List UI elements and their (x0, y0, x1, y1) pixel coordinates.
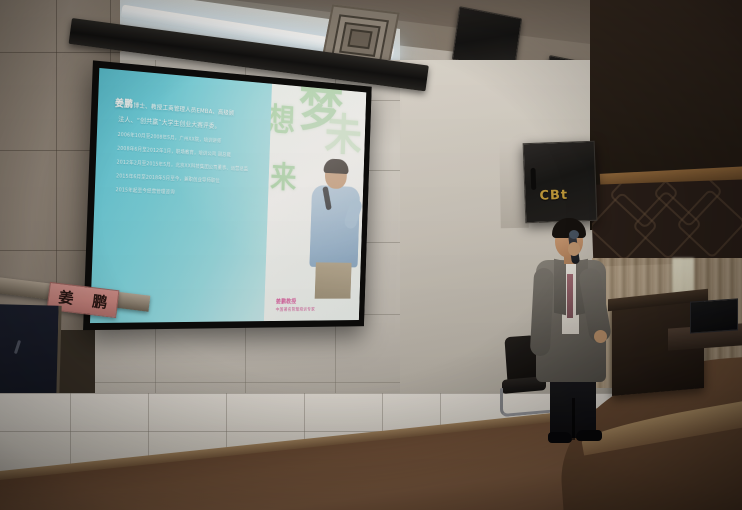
slide-bullet: 2012年2月至2015年5月，北京XX科技集团公司董事、运营总监 (117, 159, 263, 174)
microphone-head-icon (569, 230, 579, 239)
photo-trousers (315, 262, 352, 298)
placard-given-name: 鹏 (91, 294, 108, 311)
slide-bullet: 2015年起至今经营管理咨询 (116, 186, 262, 199)
slide-bullet: 2008年6月至2012年1月，职场教育，培训公司 副总裁 (117, 145, 263, 160)
calligraphy-glyph: 来 (270, 162, 297, 193)
slide-credit: 姜鹏教授 中国著名管理培训专家 (276, 297, 316, 316)
slide-credit-name: 姜鹏教授 (276, 297, 316, 308)
slide-bullet: 2006年10月至2008年5月，广州XX院，培训讲师 (118, 131, 264, 147)
presenter-hand-right (594, 330, 607, 343)
slide-credit-role: 中国著名管理培训专家 (276, 307, 316, 315)
slide-text-column: 姜鹏博士、教授工商管理人员EMBA、高级顾 法人、“创共赢”大学生创业大赛评委。… (90, 68, 272, 323)
speaker-port (530, 168, 536, 190)
presenter-hand-left (568, 242, 580, 256)
presenter-shoe-left (548, 432, 572, 443)
calligraphy-glyph: 未 (324, 112, 362, 158)
presenter-shoe-right (576, 430, 602, 441)
presentation-slide: 姜鹏博士、教授工商管理人员EMBA、高级顾 法人、“创共赢”大学生创业大赛评委。… (90, 68, 366, 323)
calligraphy-glyph: 想 (267, 104, 296, 137)
desk-monitor[interactable] (690, 298, 738, 333)
presenter-on-stage (524, 218, 620, 448)
speaker-brand-label: CBt (539, 188, 568, 204)
presenter-leg-split (572, 398, 575, 440)
presenter-lapel-left (554, 259, 566, 316)
presenter-tie (567, 274, 573, 318)
lecture-hall-photo: 姜鹏博士、教授工商管理人员EMBA、高级顾 法人、“创共赢”大学生创业大赛评委。… (0, 0, 742, 510)
slide-speaker-photo (304, 160, 367, 297)
slide-bullet: 2015年6月至2018年5月至今，兼职创业导师职位 (116, 172, 262, 186)
photo-hair (324, 158, 349, 174)
projection-screen[interactable]: 姜鹏博士、教授工商管理人员EMBA、高级顾 法人、“创共赢”大学生创业大赛评委。… (83, 60, 372, 330)
slide-image-column: 梦 想 未 来 姜鹏教授 中国著名管理培训专家 (264, 84, 366, 321)
pa-speaker-cabinet: CBt (523, 141, 598, 223)
placard-surname: 姜 (58, 290, 75, 307)
